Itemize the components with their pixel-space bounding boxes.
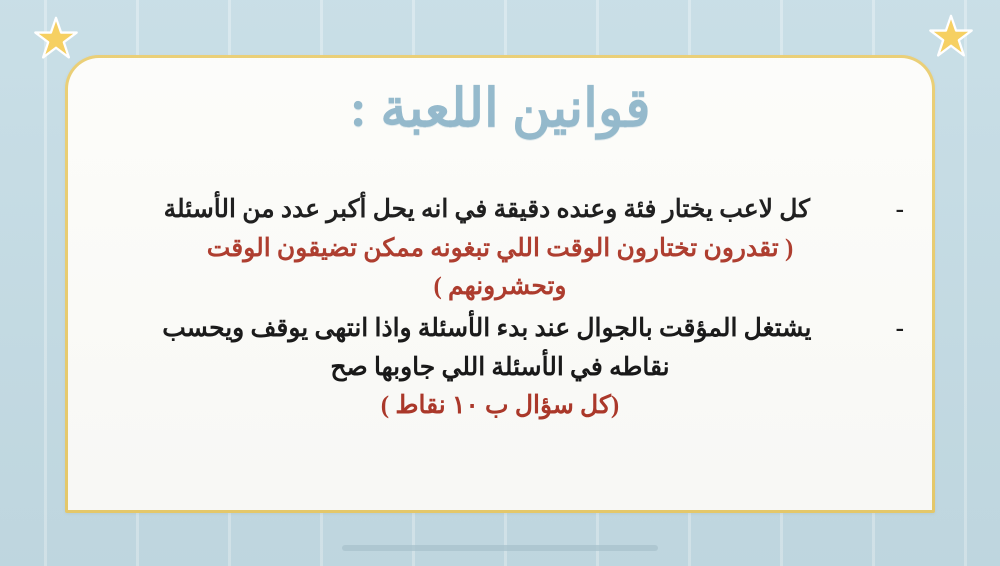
rule-line: يشتغل المؤقت بالجوال عند بدء الأسئلة واذ… bbox=[92, 310, 882, 348]
page-title: قوانين اللعبة : bbox=[68, 80, 932, 138]
bullet-dash: - bbox=[882, 191, 908, 230]
rules-card: قوانين اللعبة : - كل لاعب يختار فئة وعند… bbox=[65, 55, 935, 513]
rules-list: - كل لاعب يختار فئة وعنده دقيقة في انه ي… bbox=[92, 191, 908, 470]
star-icon bbox=[928, 14, 974, 60]
rule-line-note: ( تقدرون تختارون الوقت اللي تبغونه ممكن … bbox=[92, 230, 908, 268]
star-icon bbox=[33, 16, 79, 62]
rule-line: نقاطه في الأسئلة اللي جاوبها صح bbox=[92, 349, 908, 387]
rule-line-note: (كل سؤال ب ١٠ نقاط ) bbox=[92, 387, 908, 425]
list-item: - يشتغل المؤقت بالجوال عند بدء الأسئلة و… bbox=[92, 310, 908, 425]
slide-progress-bar[interactable] bbox=[342, 545, 658, 551]
rule-line: كل لاعب يختار فئة وعنده دقيقة في انه يحل… bbox=[92, 191, 882, 229]
slide-canvas: قوانين اللعبة : - كل لاعب يختار فئة وعند… bbox=[0, 0, 1000, 566]
bullet-dash: - bbox=[882, 310, 908, 349]
list-item: - كل لاعب يختار فئة وعنده دقيقة في انه ي… bbox=[92, 191, 908, 306]
rule-line-note: وتحشرونهم ) bbox=[92, 268, 908, 306]
